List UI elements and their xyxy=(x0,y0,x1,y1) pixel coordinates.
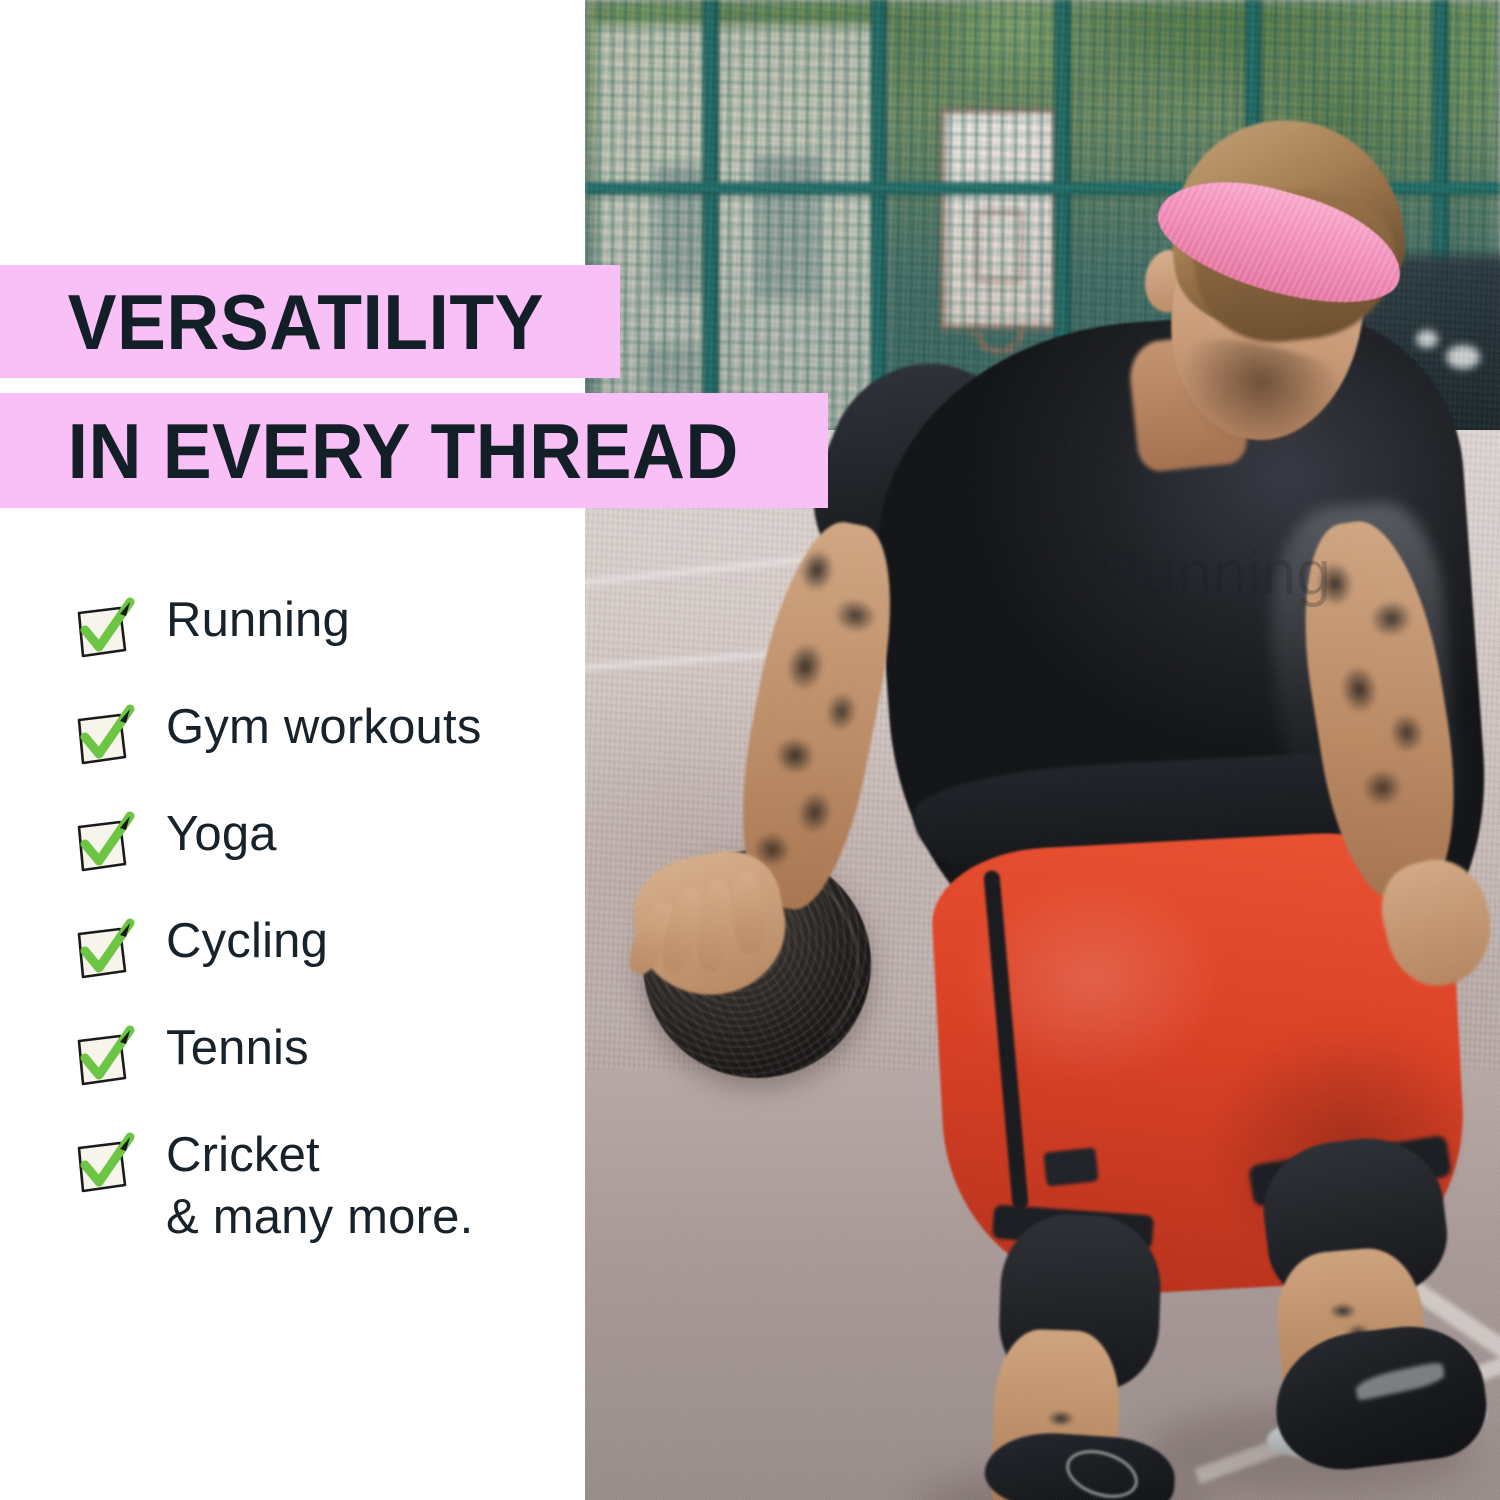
list-item: Cycling xyxy=(0,909,585,1016)
list-item-label: Tennis xyxy=(166,1020,309,1076)
list-item-label: Yoga xyxy=(166,806,277,862)
list-item: Tennis xyxy=(0,1016,585,1123)
list-item-label: Cricket xyxy=(166,1127,473,1183)
list-item-label: Cycling xyxy=(166,913,328,969)
list-item-sublabel: & many more. xyxy=(166,1189,473,1245)
benefits-checklist: Running Gym workouts Yoga xyxy=(0,588,585,1273)
player-figure xyxy=(585,0,1500,1500)
checkbox-checked-icon xyxy=(74,707,134,769)
list-item-label: Running xyxy=(166,592,350,648)
shorts-tab xyxy=(1043,1147,1098,1186)
headline-line-1: VERSATILITY xyxy=(0,283,544,361)
list-item: Cricket & many more. xyxy=(0,1123,585,1273)
checkbox-checked-icon xyxy=(74,1028,134,1090)
list-item: Gym workouts xyxy=(0,695,585,802)
list-item-label: Gym workouts xyxy=(166,699,482,755)
headline-band-1: VERSATILITY xyxy=(0,265,620,378)
hero-photo: Running xyxy=(585,0,1500,1500)
poster-canvas: Running VERSATILITY IN EVERY THREAD Runn… xyxy=(0,0,1500,1500)
checkbox-checked-icon xyxy=(74,600,134,662)
arm-tattoo-left xyxy=(723,520,908,907)
list-item: Running xyxy=(0,588,585,695)
list-item: Yoga xyxy=(0,802,585,909)
list-item-text-group: Cricket & many more. xyxy=(134,1123,473,1245)
checkbox-checked-icon xyxy=(74,814,134,876)
headline-band-2: IN EVERY THREAD xyxy=(0,393,828,508)
checkbox-checked-icon xyxy=(74,1135,134,1197)
checkbox-checked-icon xyxy=(74,921,134,983)
headline-line-2: IN EVERY THREAD xyxy=(0,412,739,490)
